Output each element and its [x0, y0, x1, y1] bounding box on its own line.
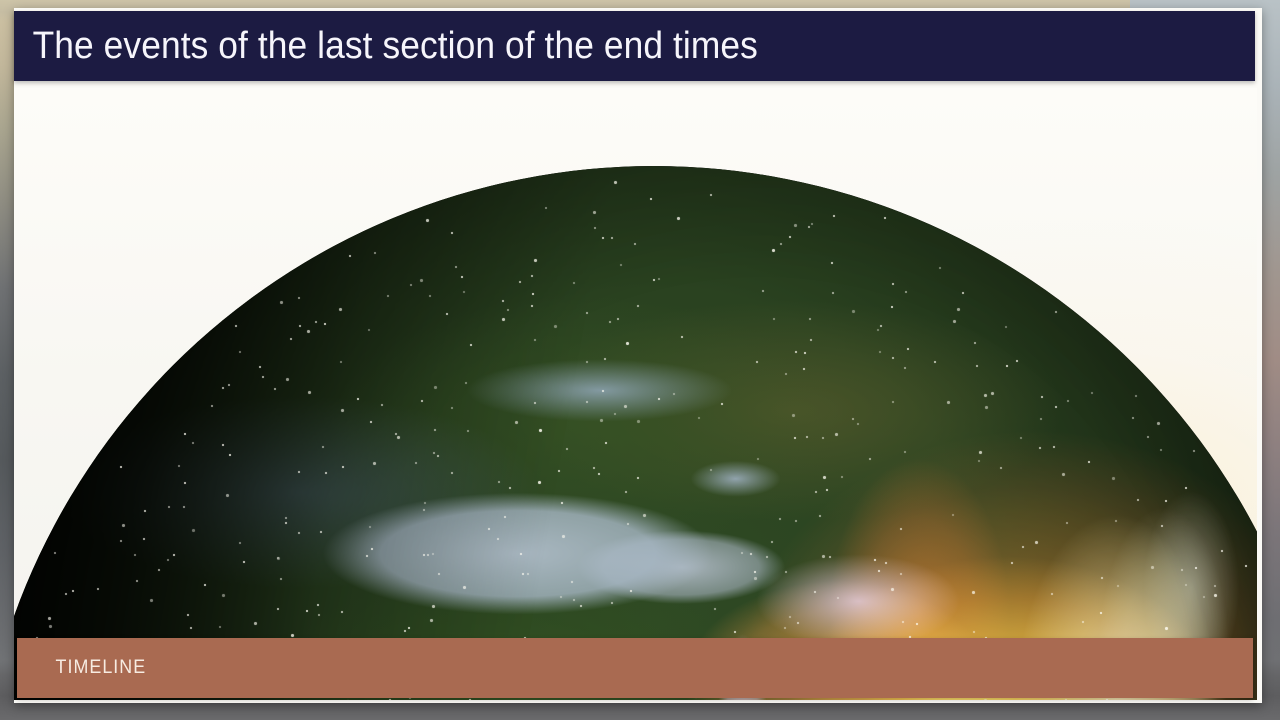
- slide-footer-bar[interactable]: TIMELINE: [17, 638, 1253, 698]
- slide-background-image: [14, 88, 1257, 700]
- page-title: The events of the last section of the en…: [14, 25, 758, 68]
- presentation-slide: The events of the last section of the en…: [0, 0, 1280, 720]
- footer-label: TIMELINE: [17, 657, 146, 679]
- slide-title-bar: The events of the last section of the en…: [14, 11, 1255, 81]
